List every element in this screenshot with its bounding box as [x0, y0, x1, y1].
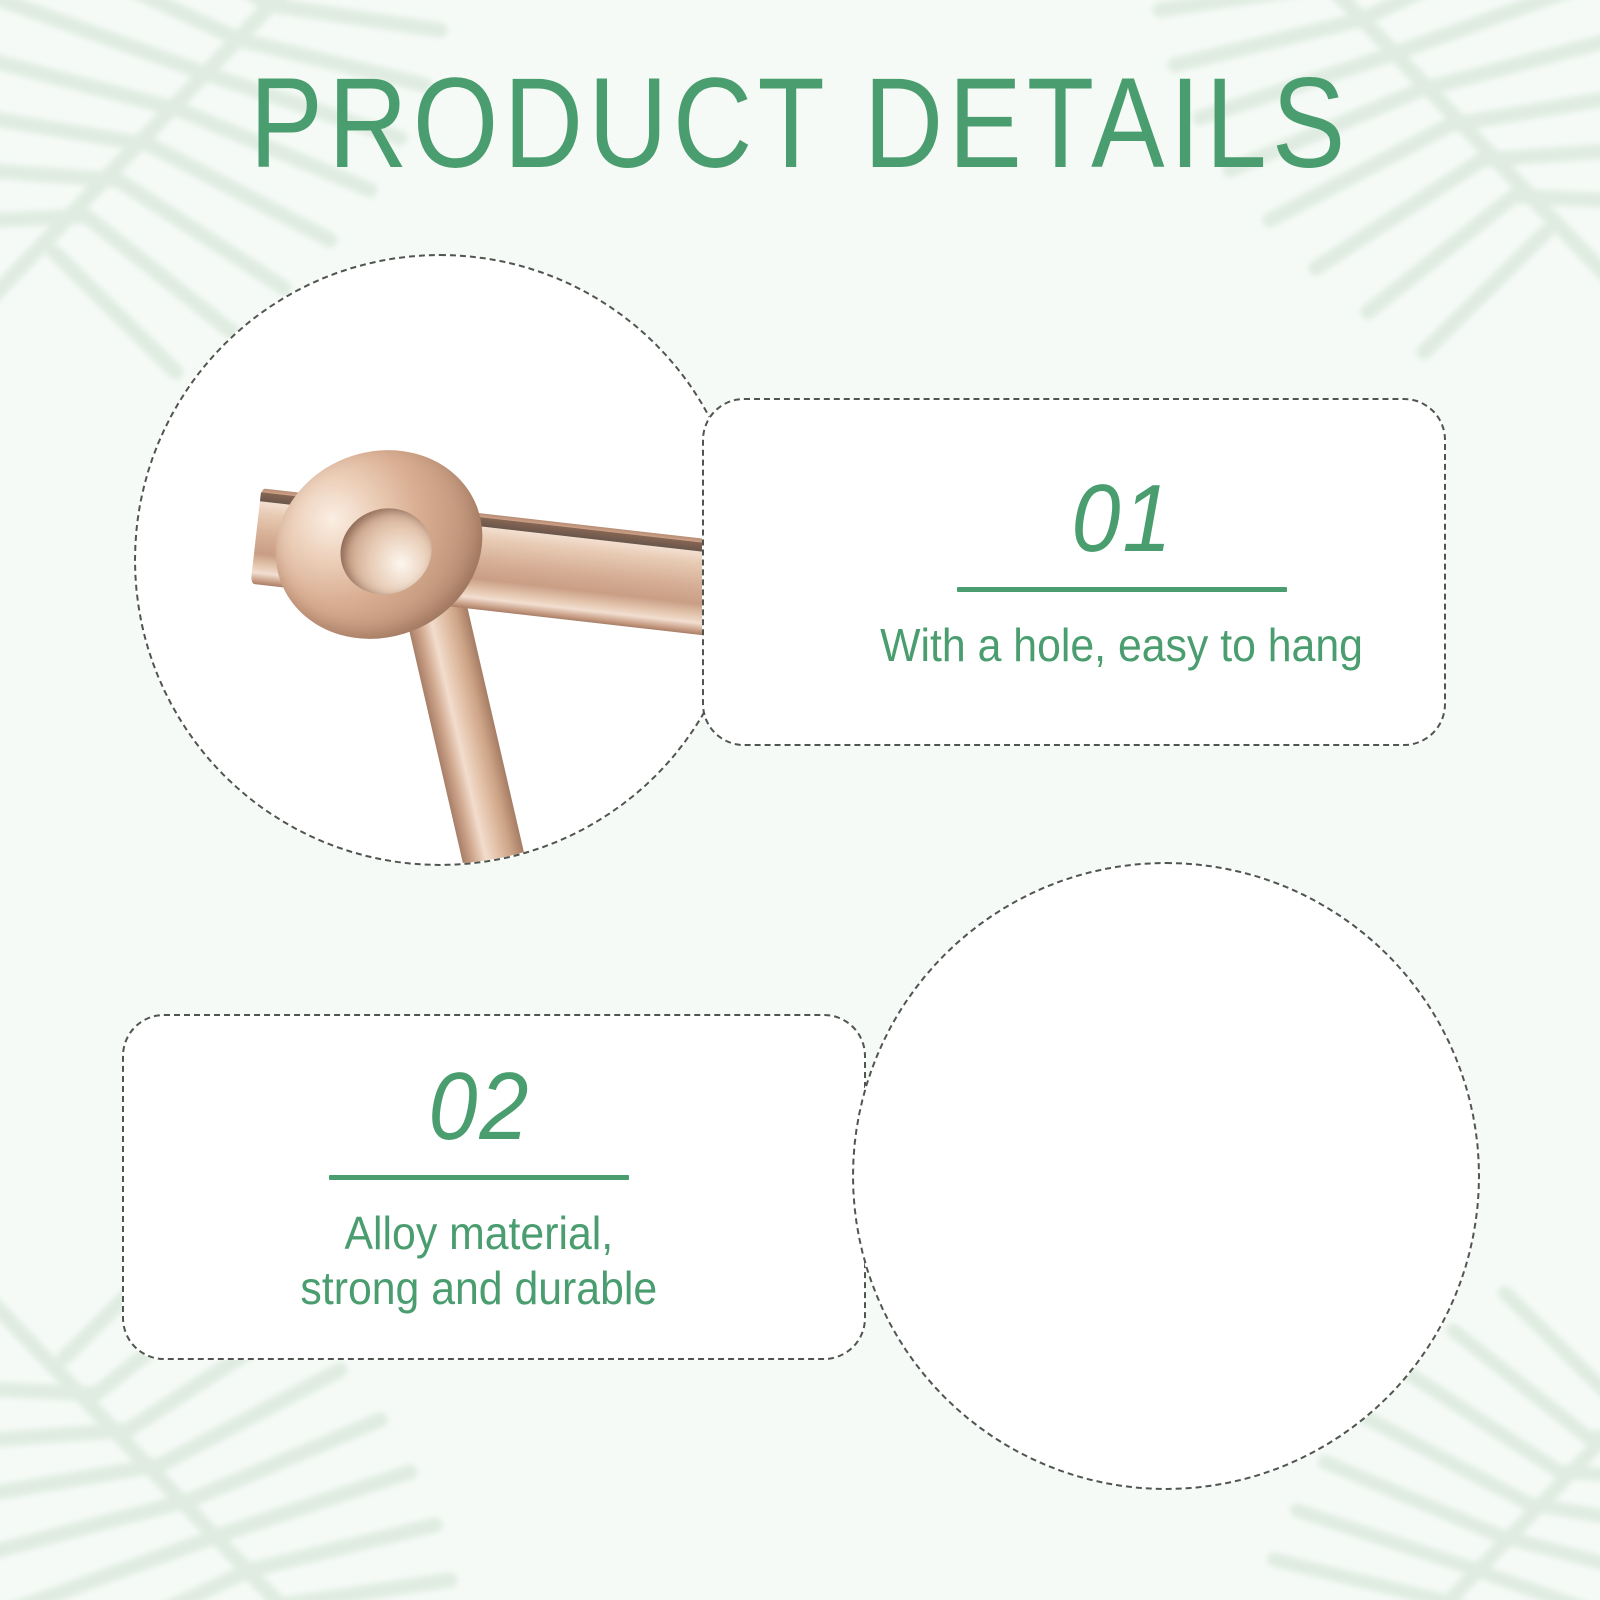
divider-rule — [957, 587, 1287, 592]
metal-band-artwork — [854, 864, 1478, 1488]
feature-number-02: 02 — [428, 1059, 530, 1155]
feature-card-02: 02 Alloy material, strong and durable — [122, 1014, 866, 1360]
product-photo-02 — [852, 862, 1480, 1490]
feature-card-01: 01 With a hole, easy to hang — [702, 398, 1446, 746]
metal-hook-artwork — [136, 256, 744, 864]
product-details-page: PRODUCT DETAILS 01 With a hole, easy to … — [0, 0, 1600, 1600]
feature-caption-01: With a hole, easy to hang — [881, 618, 1364, 672]
feature-number-01: 01 — [1071, 471, 1173, 567]
product-photo-01 — [134, 254, 746, 866]
divider-rule — [329, 1175, 629, 1180]
feature-caption-02: Alloy material, strong and durable — [301, 1206, 658, 1315]
page-title: PRODUCT DETAILS — [112, 60, 1488, 188]
band-edge — [852, 862, 1480, 1490]
